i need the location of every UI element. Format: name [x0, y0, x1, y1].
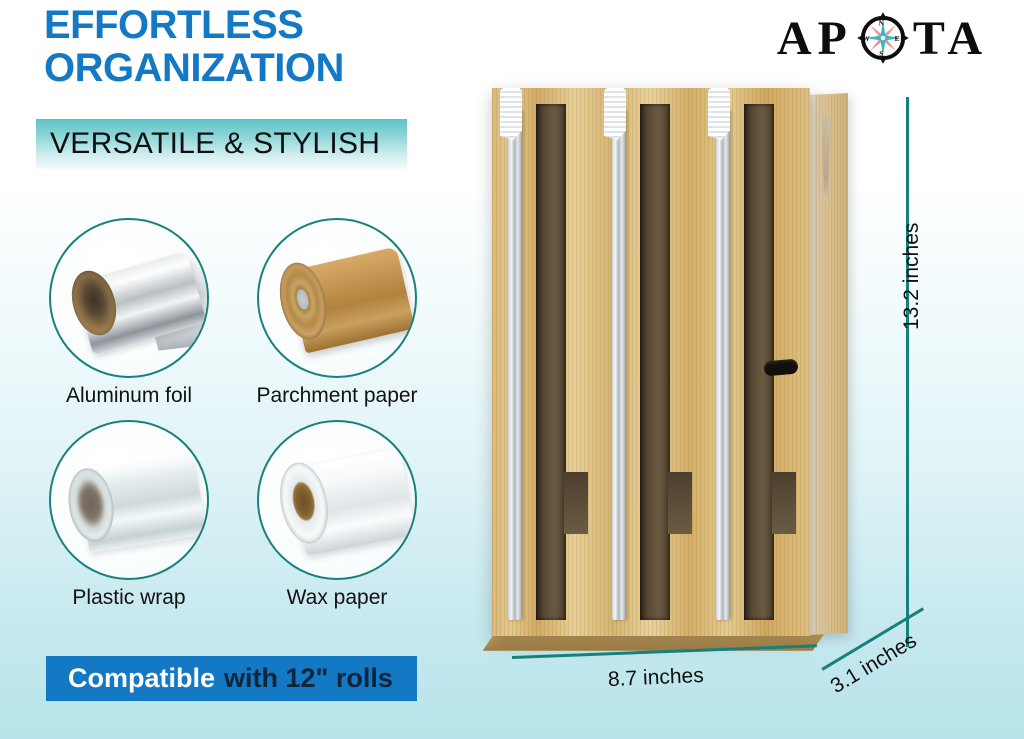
compatible-banner: Compatible with 12" rolls	[46, 656, 417, 701]
product-slot-2	[640, 104, 670, 620]
product-slot-1	[536, 104, 566, 620]
brand-logo: AP N S E W TA	[777, 10, 988, 66]
dimension-label-height: 13.2 inches	[900, 223, 924, 330]
compatible-banner-strong: Compatible	[68, 663, 215, 694]
brand-letters-after: TA	[913, 11, 988, 66]
subheading-banner: VERSATILE & STYLISH	[36, 119, 407, 169]
plastic-wrap-roll-icon	[49, 420, 209, 580]
product-cutter-knob-1[interactable]	[500, 88, 522, 140]
product-cutter-knob-2[interactable]	[604, 88, 626, 140]
parchment-paper-roll-icon	[257, 218, 417, 378]
wax-paper-roll-icon	[257, 420, 417, 580]
product-cutter-knob-3[interactable]	[708, 88, 730, 140]
infographic-canvas: EFFORTLESS ORGANIZATION VERSATILE & STYL…	[0, 0, 1024, 739]
product-thumb-hole	[763, 359, 798, 377]
compatible-item-label: Parchment paper	[244, 384, 430, 408]
svg-text:E: E	[894, 35, 902, 43]
compatible-item-label: Aluminum foil	[36, 384, 222, 408]
svg-text:S: S	[879, 50, 886, 58]
product-cutter-rail-1	[508, 110, 522, 620]
svg-text:W: W	[862, 35, 873, 43]
dimension-label-width: 8.7 inches	[608, 664, 705, 692]
product-front-panel	[492, 88, 810, 636]
compatible-item-plastic-wrap: Plastic wrap	[36, 420, 222, 610]
product-side-panel	[810, 93, 848, 635]
compatible-item-parchment-paper: Parchment paper	[244, 218, 430, 408]
compass-rose-icon: N S E W	[855, 10, 911, 66]
product-cutter-rail-3	[716, 110, 730, 620]
compatible-item-label: Plastic wrap	[36, 586, 222, 610]
compatible-items-row-top: Aluminum foil Parchment paper	[36, 218, 446, 408]
compatible-banner-rest: with 12" rolls	[224, 663, 393, 694]
headline-line-2: ORGANIZATION	[44, 47, 444, 90]
dimension-line-height	[906, 97, 909, 647]
headline-line-1: EFFORTLESS	[44, 3, 303, 47]
compatible-item-wax-paper: Wax paper	[244, 420, 430, 610]
compatible-items-grid: Aluminum foil Parchment paper Plastic wr…	[36, 218, 446, 622]
compatible-items-row-bottom: Plastic wrap Wax paper	[36, 420, 446, 610]
page-title: EFFORTLESS ORGANIZATION	[44, 4, 444, 90]
compatible-item-label: Wax paper	[244, 586, 430, 610]
compatible-item-aluminum-foil: Aluminum foil	[36, 218, 222, 408]
brand-letters-before: AP	[777, 11, 853, 66]
subheading-text: VERSATILE & STYLISH	[36, 127, 380, 161]
product-cutter-rail-2	[612, 110, 626, 620]
product-image	[492, 88, 848, 648]
aluminum-foil-roll-icon	[49, 218, 209, 378]
svg-text:N: N	[879, 20, 888, 28]
